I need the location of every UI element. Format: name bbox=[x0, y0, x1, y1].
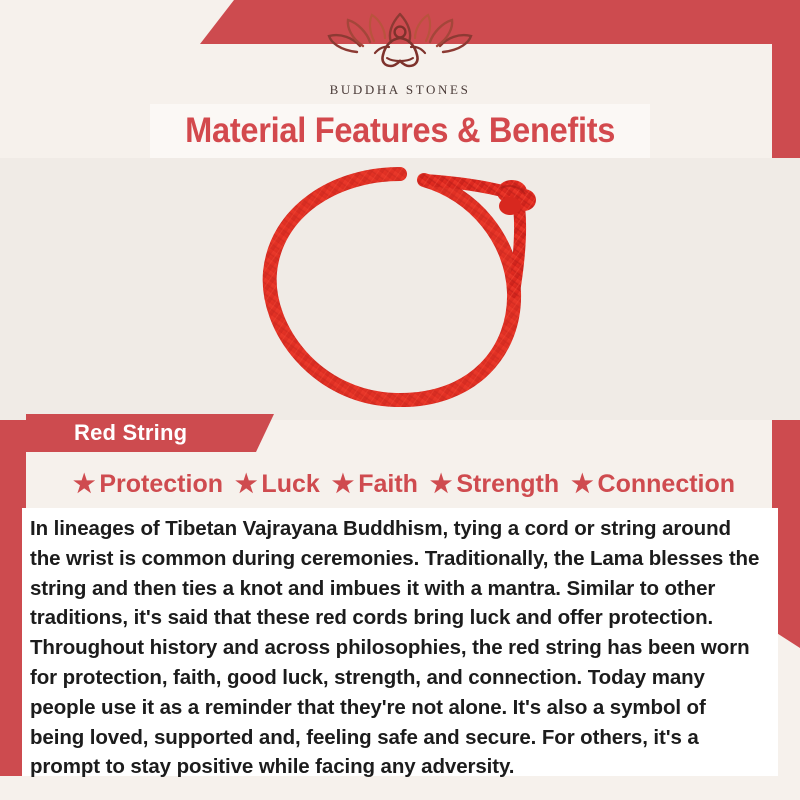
brand-logo: BUDDHA STONES bbox=[0, 8, 800, 98]
lotus-meditation-icon bbox=[325, 8, 475, 80]
page-title-text: Material Features & Benefits bbox=[185, 111, 615, 151]
bracelet-knot bbox=[497, 180, 536, 215]
benefit-label: Connection bbox=[598, 470, 736, 499]
brand-wordmark: BUDDHA STONES bbox=[0, 82, 800, 98]
material-features-infographic: BUDDHA STONES Material Features & Benefi… bbox=[0, 0, 800, 800]
star-icon: ★ bbox=[332, 472, 354, 497]
product-name-banner: Red String bbox=[26, 414, 274, 452]
red-string-bracelet-image bbox=[238, 160, 562, 418]
benefit-item-luck: ★ Luck bbox=[235, 470, 320, 499]
description-text: In lineages of Tibetan Vajrayana Buddhis… bbox=[30, 514, 764, 782]
benefit-item-connection: ★ Connection bbox=[571, 470, 735, 499]
benefit-label: Faith bbox=[358, 470, 418, 499]
benefit-label: Strength bbox=[456, 470, 559, 499]
benefit-item-strength: ★ Strength bbox=[430, 470, 559, 499]
page-title: Material Features & Benefits bbox=[150, 104, 650, 158]
benefits-list: ★ Protection ★ Luck ★ Faith ★ Strength ★… bbox=[26, 462, 782, 506]
product-name: Red String bbox=[26, 420, 187, 446]
benefit-item-faith: ★ Faith bbox=[332, 470, 418, 499]
benefit-label: Protection bbox=[99, 470, 223, 499]
star-icon: ★ bbox=[571, 472, 593, 497]
star-icon: ★ bbox=[430, 472, 452, 497]
description-panel: In lineages of Tibetan Vajrayana Buddhis… bbox=[22, 508, 778, 776]
benefit-item-protection: ★ Protection bbox=[73, 470, 223, 499]
star-icon: ★ bbox=[73, 472, 95, 497]
hero-image-area bbox=[0, 158, 800, 420]
benefit-label: Luck bbox=[261, 470, 319, 499]
star-icon: ★ bbox=[235, 472, 257, 497]
